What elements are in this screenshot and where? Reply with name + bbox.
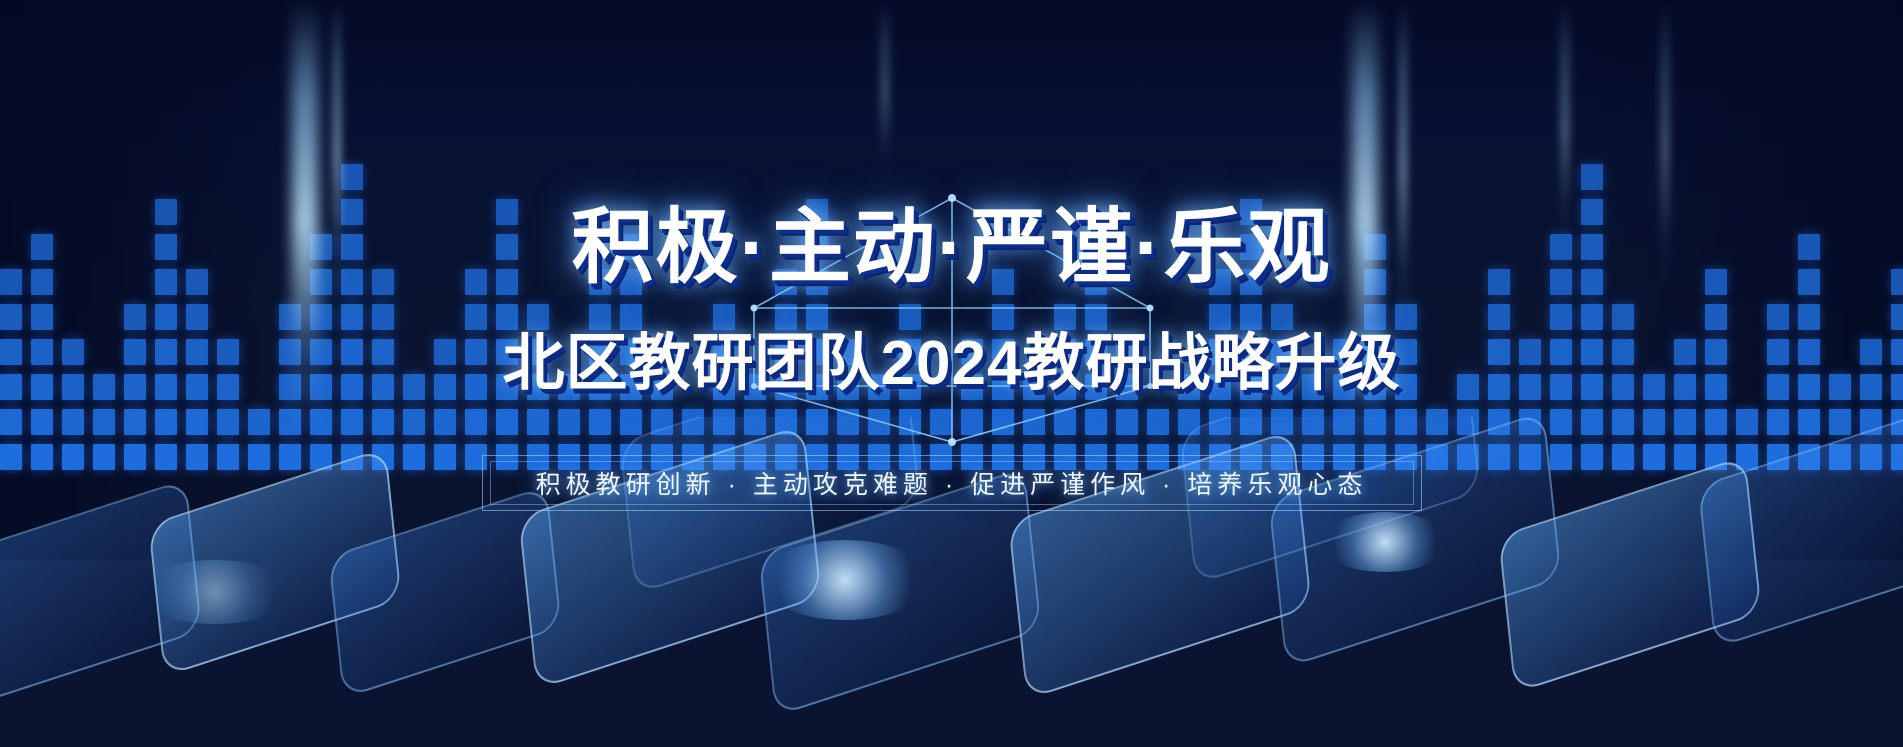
skyline-pixel [1829,444,1851,470]
skyline-pixel [1457,409,1479,435]
skyline-column [1736,409,1758,470]
skyline-pixel [341,444,363,470]
skyline-pixel [1798,409,1820,435]
skyline-pixel [1612,444,1634,470]
skyline-pixel [217,409,239,435]
skyline-pixel [1519,444,1541,470]
skyline-pixel [186,444,208,470]
skyline-pixel [620,409,642,435]
skyline-pixel [372,444,394,470]
skyline-pixel [527,409,549,435]
skyline-pixel [341,409,363,435]
skyline-pixel [403,444,425,470]
light-beam [880,0,890,180]
skyline-pixel [806,409,828,435]
skyline-pixel [155,444,177,470]
skyline-pixel [0,444,22,470]
skyline-pixel [310,409,332,435]
skyline-pixel [186,409,208,435]
skyline-pixel [1736,444,1758,470]
skyline-pixel [248,444,270,470]
skyline-pixel [1643,444,1665,470]
skyline-pixel [1457,444,1479,470]
skyline-pixel [1643,409,1665,435]
skyline-pixel [868,409,890,435]
skyline-pixel [372,409,394,435]
skyline-pixel [1798,444,1820,470]
skyline-pixel [31,444,53,470]
skyline-pixel [310,444,332,470]
skyline-pixel [1488,409,1510,435]
skyline-pixel [279,444,301,470]
skyline-pixel [961,409,983,435]
skyline-pixel [124,444,146,470]
skyline-pixel [217,444,239,470]
skyline-pixel [1271,409,1293,435]
skyline-pixel [1209,409,1231,435]
skyline-pixel [403,409,425,435]
skyline-pixel [1736,409,1758,435]
skyline-pixel [1860,409,1882,435]
skyline-pixel [62,409,84,435]
skyline-pixel [1147,409,1169,435]
skyline-pixel [837,409,859,435]
skyline-pixel [496,409,518,435]
skyline-pixel [992,409,1014,435]
skyline-pixel [1767,409,1789,435]
skyline-pixel [31,409,53,435]
skyline-pixel [1240,409,1262,435]
skyline-pixel [1426,409,1448,435]
skyline-pixel [1581,444,1603,470]
skyline-pixel [434,409,456,435]
banner-root: 积极·主动·严谨·乐观 北区教研团队2024教研战略升级 积极教研创新 · 主动… [0,0,1903,747]
skyline-pixel [558,409,580,435]
skyline-pixel [1550,409,1572,435]
skyline-pixel [1054,409,1076,435]
skyline-pixel [0,409,22,435]
skyline-pixel [124,409,146,435]
skyline-pixel [1302,409,1324,435]
skyline-pixel [775,409,797,435]
skyline-pixel [1767,444,1789,470]
skyline-pixel [93,409,115,435]
skyline-pixel [279,409,301,435]
subtitle-bar: 积极教研创新 · 主动攻克难题 · 促进严谨作风 · 培养乐观心态 [482,455,1422,511]
skyline-pixel [1674,409,1696,435]
skyline-pixel [1891,444,1903,470]
skyline-pixel [93,444,115,470]
skyline-pixel [248,409,270,435]
skyline-pixel [1395,409,1417,435]
skyline-pixel [1674,444,1696,470]
skyline-pixel [465,409,487,435]
skyline-pixel [930,409,952,435]
skyline-pixel [1550,444,1572,470]
skyline-pixel [155,409,177,435]
skyline-pixel [713,409,735,435]
skyline-pixel [1085,409,1107,435]
skyline-pixel [1860,444,1882,470]
floor-glow [760,540,930,620]
skyline-pixel [1705,444,1727,470]
floor-glow [1320,512,1450,572]
skyline-pixel [1519,409,1541,435]
skyline-pixel [1705,409,1727,435]
title-line-2: 北区教研团队2024教研战略升级 [0,312,1903,402]
skyline-column [248,409,270,470]
skyline-pixel [682,409,704,435]
skyline-pixel [744,409,766,435]
skyline-pixel [1333,409,1355,435]
skyline-pixel [899,409,921,435]
skyline-pixel [62,444,84,470]
skyline-column [1426,409,1448,470]
skyline-pixel [434,444,456,470]
skyline-pixel [651,409,673,435]
subtitle-text: 积极教研创新 · 主动攻克难题 · 促进严谨作风 · 培养乐观心态 [482,455,1422,511]
skyline-pixel [1488,444,1510,470]
skyline-pixel [1178,409,1200,435]
skyline-pixel [1116,409,1138,435]
skyline-pixel [1612,409,1634,435]
skyline-pixel [1581,409,1603,435]
skyline-pixel [1364,409,1386,435]
skyline-pixel [1023,409,1045,435]
skyline-pixel [1426,444,1448,470]
title-line-1: 积极·主动·严谨·乐观 [0,180,1903,299]
skyline-pixel [1829,409,1851,435]
floor-glow [140,560,290,624]
skyline-pixel [589,409,611,435]
skyline-pixel [1891,409,1903,435]
